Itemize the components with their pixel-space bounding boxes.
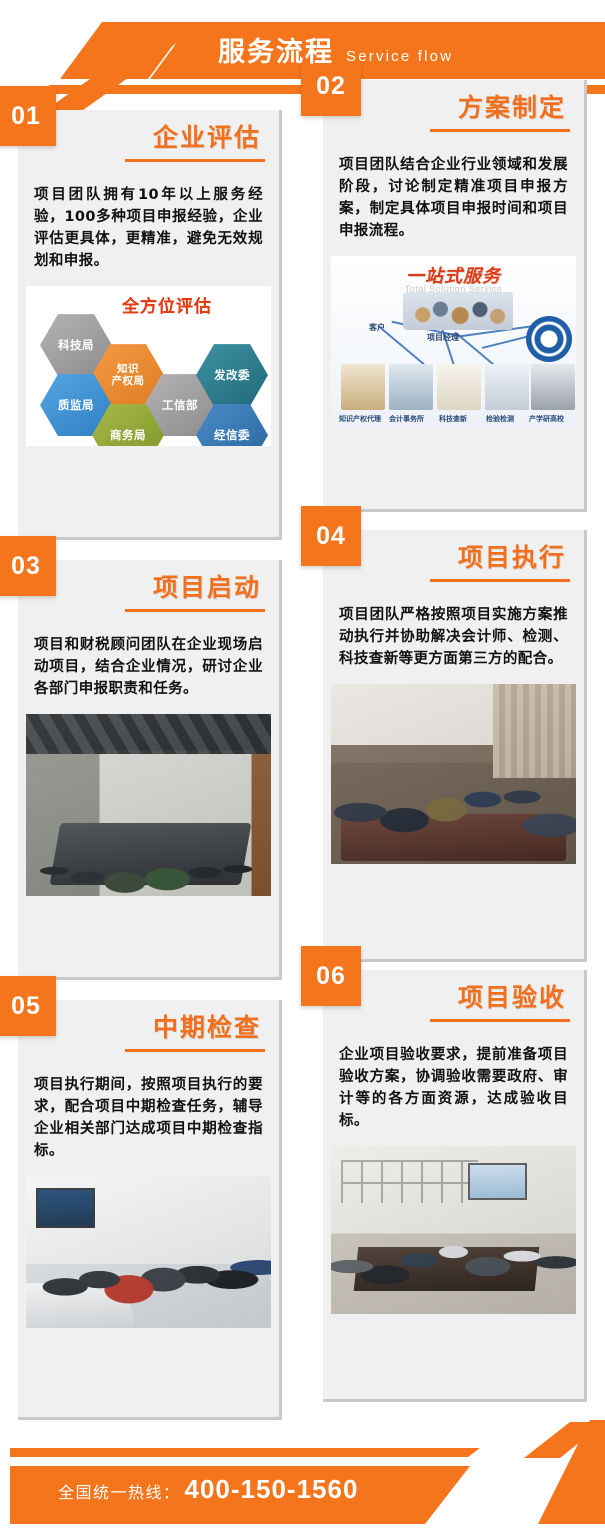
card-media: 一站式服务 Total Solution Service 客户 项目经理 — [323, 256, 584, 438]
service-thumb-2 — [437, 364, 481, 410]
service-thumb-1 — [389, 364, 433, 410]
photo-meeting-room — [26, 714, 271, 896]
footer-thin-stripe — [10, 1448, 480, 1457]
title-underline — [430, 579, 570, 582]
step-card-06[interactable]: 06 项目验收 企业项目验收要求，提前准备项目验收方案，协调验收需要政府、审计等… — [323, 970, 587, 1402]
card-body-text: 项目执行期间，按照项目执行的要求，配合项目中期检查任务，辅导企业相关部门达成项目… — [18, 1062, 279, 1176]
card-title: 企业评估 — [32, 124, 265, 153]
card-header: 项目验收 — [323, 970, 584, 1032]
page-footer: 全国统一热线： 400-150-1560 — [0, 1408, 605, 1538]
card-header: 方案制定 — [323, 80, 584, 142]
card-title: 项目执行 — [337, 544, 570, 573]
service-thumb-4 — [531, 364, 575, 410]
step-card-05[interactable]: 05 中期检查 项目执行期间，按照项目执行的要求，配合项目中期检查任务，辅导企业… — [18, 1000, 282, 1420]
service-thumb-0 — [341, 364, 385, 410]
title-underline — [430, 129, 570, 132]
onestop-node-manager: 项目经理 — [427, 332, 459, 343]
flow-arrow — [454, 332, 495, 367]
card-media — [323, 1146, 584, 1324]
card-body-text: 项目团队结合企业行业领域和发展阶段，讨论制定精准项目申报方案，制定具体项目申报时… — [323, 142, 584, 256]
title-underline — [125, 159, 265, 162]
card-body-text: 项目和财税顾问团队在企业现场启动项目，结合企业情况，研讨企业各部门申报职责和任务… — [18, 622, 279, 714]
card-media — [323, 684, 584, 874]
title-underline — [125, 609, 265, 612]
card-media — [18, 1176, 279, 1338]
card-media: 全方位评估 科技局 知识 产权局 质监局 工信部 商务局 发改委 经信委 — [18, 286, 279, 456]
step-number-badge: 06 — [301, 946, 361, 1006]
photo-site-visit — [26, 1176, 271, 1328]
onestop-subtitle: Total Solution Service — [405, 284, 503, 294]
step-card-01[interactable]: 01 企业评估 项目团队拥有10年以上服务经验，100多种项目申报经验，企业评估… — [18, 110, 282, 540]
photo-sheen — [331, 1146, 576, 1314]
step-card-03[interactable]: 03 项目启动 项目和财税顾问团队在企业现场启动项目，结合企业情况，研讨企业各部… — [18, 560, 282, 980]
header-thin-stripe-tail — [38, 85, 188, 94]
photo-sheen — [331, 684, 576, 864]
card-header: 项目执行 — [323, 530, 584, 592]
title-underline — [125, 1049, 265, 1052]
certification-seal-icon — [526, 316, 572, 362]
header-title-group: 服务流程 Service flow — [218, 30, 453, 74]
card-title: 项目验收 — [337, 984, 570, 1013]
service-caption-1: 会计事务所 — [389, 414, 424, 424]
page-title: 服务流程 — [218, 30, 334, 69]
service-thumb-3 — [485, 364, 529, 410]
step-card-04[interactable]: 04 项目执行 项目团队严格按照项目实施方案推动执行并协助解决会计师、检测、科技… — [323, 530, 587, 962]
service-caption-4: 产学研高校 — [529, 414, 564, 424]
onestop-node-client: 客户 — [369, 322, 385, 333]
photo-acceptance-meeting — [331, 1146, 576, 1314]
photo-sheen — [26, 714, 271, 896]
card-title: 中期检查 — [32, 1014, 265, 1043]
step-card-02[interactable]: 02 方案制定 项目团队结合企业行业领域和发展阶段，讨论制定精准项目申报方案，制… — [323, 80, 587, 512]
service-caption-3: 检验检测 — [486, 414, 514, 424]
card-title: 方案制定 — [337, 94, 570, 123]
card-header: 企业评估 — [18, 110, 279, 172]
photo-working-session — [331, 684, 576, 864]
photo-sheen — [26, 1176, 271, 1328]
step-number-badge: 05 — [0, 976, 56, 1036]
service-flow-poster: 服务流程 Service flow 01 企业评估 项目团队拥有10年以上服务经… — [0, 0, 605, 1538]
card-body-text: 项目团队严格按照项目实施方案推动执行并协助解决会计师、检测、科技查新等更方面第三… — [323, 592, 584, 684]
hotline-number[interactable]: 400-150-1560 — [185, 1474, 359, 1505]
hex-diagram-title: 全方位评估 — [122, 292, 212, 317]
hotline-label: 全国统一热线： — [58, 1479, 181, 1503]
title-underline — [430, 1019, 570, 1022]
step-number-badge: 01 — [0, 86, 56, 146]
card-header: 中期检查 — [18, 1000, 279, 1062]
card-media — [18, 714, 279, 906]
step-number-badge: 03 — [0, 536, 56, 596]
page-subtitle: Service flow — [346, 48, 453, 65]
step-number-badge: 04 — [301, 506, 361, 566]
service-caption-2: 科技查新 — [439, 414, 467, 424]
card-header: 项目启动 — [18, 560, 279, 622]
card-body-text: 项目团队拥有10年以上服务经验，100多种项目申报经验，企业评估更具体，更精准，… — [18, 172, 279, 286]
onestop-service-diagram: 一站式服务 Total Solution Service 客户 项目经理 — [331, 256, 576, 428]
service-caption-0: 知识产权代理 — [339, 414, 381, 424]
card-title: 项目启动 — [32, 574, 265, 603]
onestop-team-photo — [403, 292, 513, 330]
hotline-group: 全国统一热线： 400-150-1560 — [58, 1474, 358, 1505]
card-body-text: 企业项目验收要求，提前准备项目验收方案，协调验收需要政府、审计等的各方面资源，达… — [323, 1032, 584, 1146]
hex-assessment-diagram: 全方位评估 科技局 知识 产权局 质监局 工信部 商务局 发改委 经信委 — [26, 286, 271, 446]
